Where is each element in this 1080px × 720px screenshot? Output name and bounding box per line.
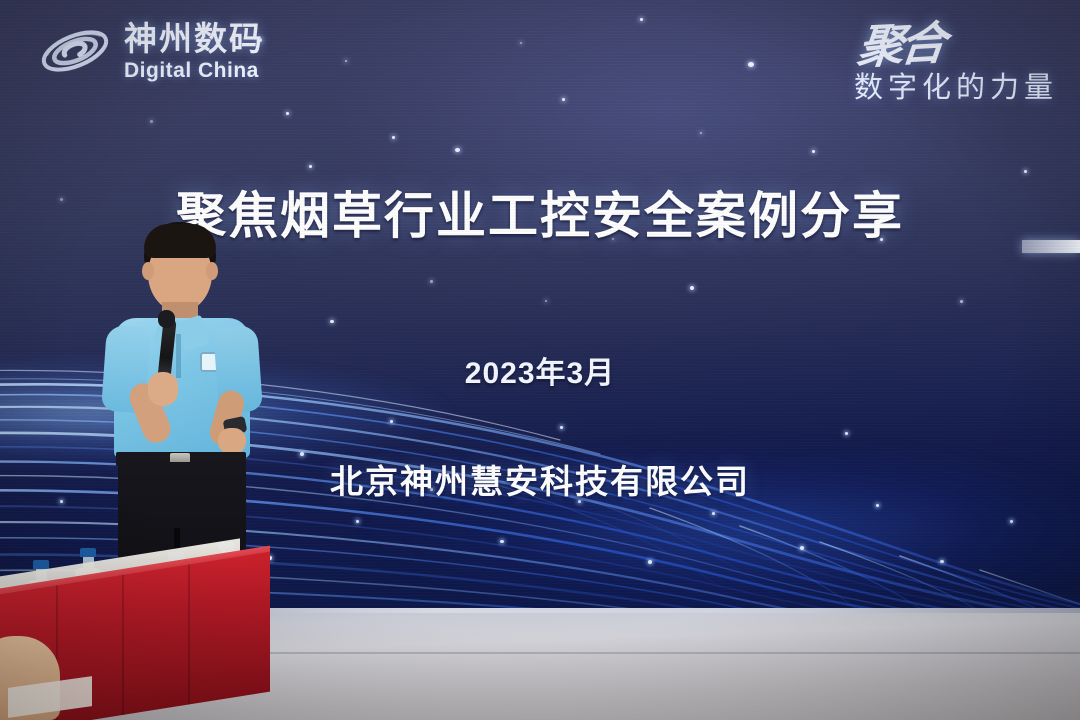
speaker-hair-top	[144, 224, 216, 258]
presentation-photo: 神州数码 Digital China 聚合 数字化的力量 聚焦烟草行业工控安全案…	[0, 0, 1080, 720]
event-theme-subtitle: 数字化的力量	[854, 74, 1058, 103]
speaker-ear-right	[206, 262, 218, 280]
skirt-fold	[188, 564, 190, 704]
speaker-hand-right	[218, 428, 246, 454]
skirt-fold	[122, 575, 124, 715]
speaker-ear-left	[142, 262, 154, 280]
bottle-cap	[33, 560, 49, 569]
brand-name-cn: 神州数码	[124, 22, 264, 55]
brand-name-en: Digital China	[124, 60, 264, 81]
spiral-galaxy-icon	[38, 20, 112, 82]
speaker-hand-left	[148, 372, 178, 406]
speaker-shirt-placket	[176, 334, 181, 378]
event-theme-calligraphy: 聚合	[851, 20, 944, 71]
event-theme-lockup: 聚合 数字化的力量	[854, 22, 1058, 103]
brand-lockup: 神州数码 Digital China	[38, 20, 264, 82]
bottle-cap	[80, 548, 96, 557]
microphone-head	[158, 310, 175, 328]
